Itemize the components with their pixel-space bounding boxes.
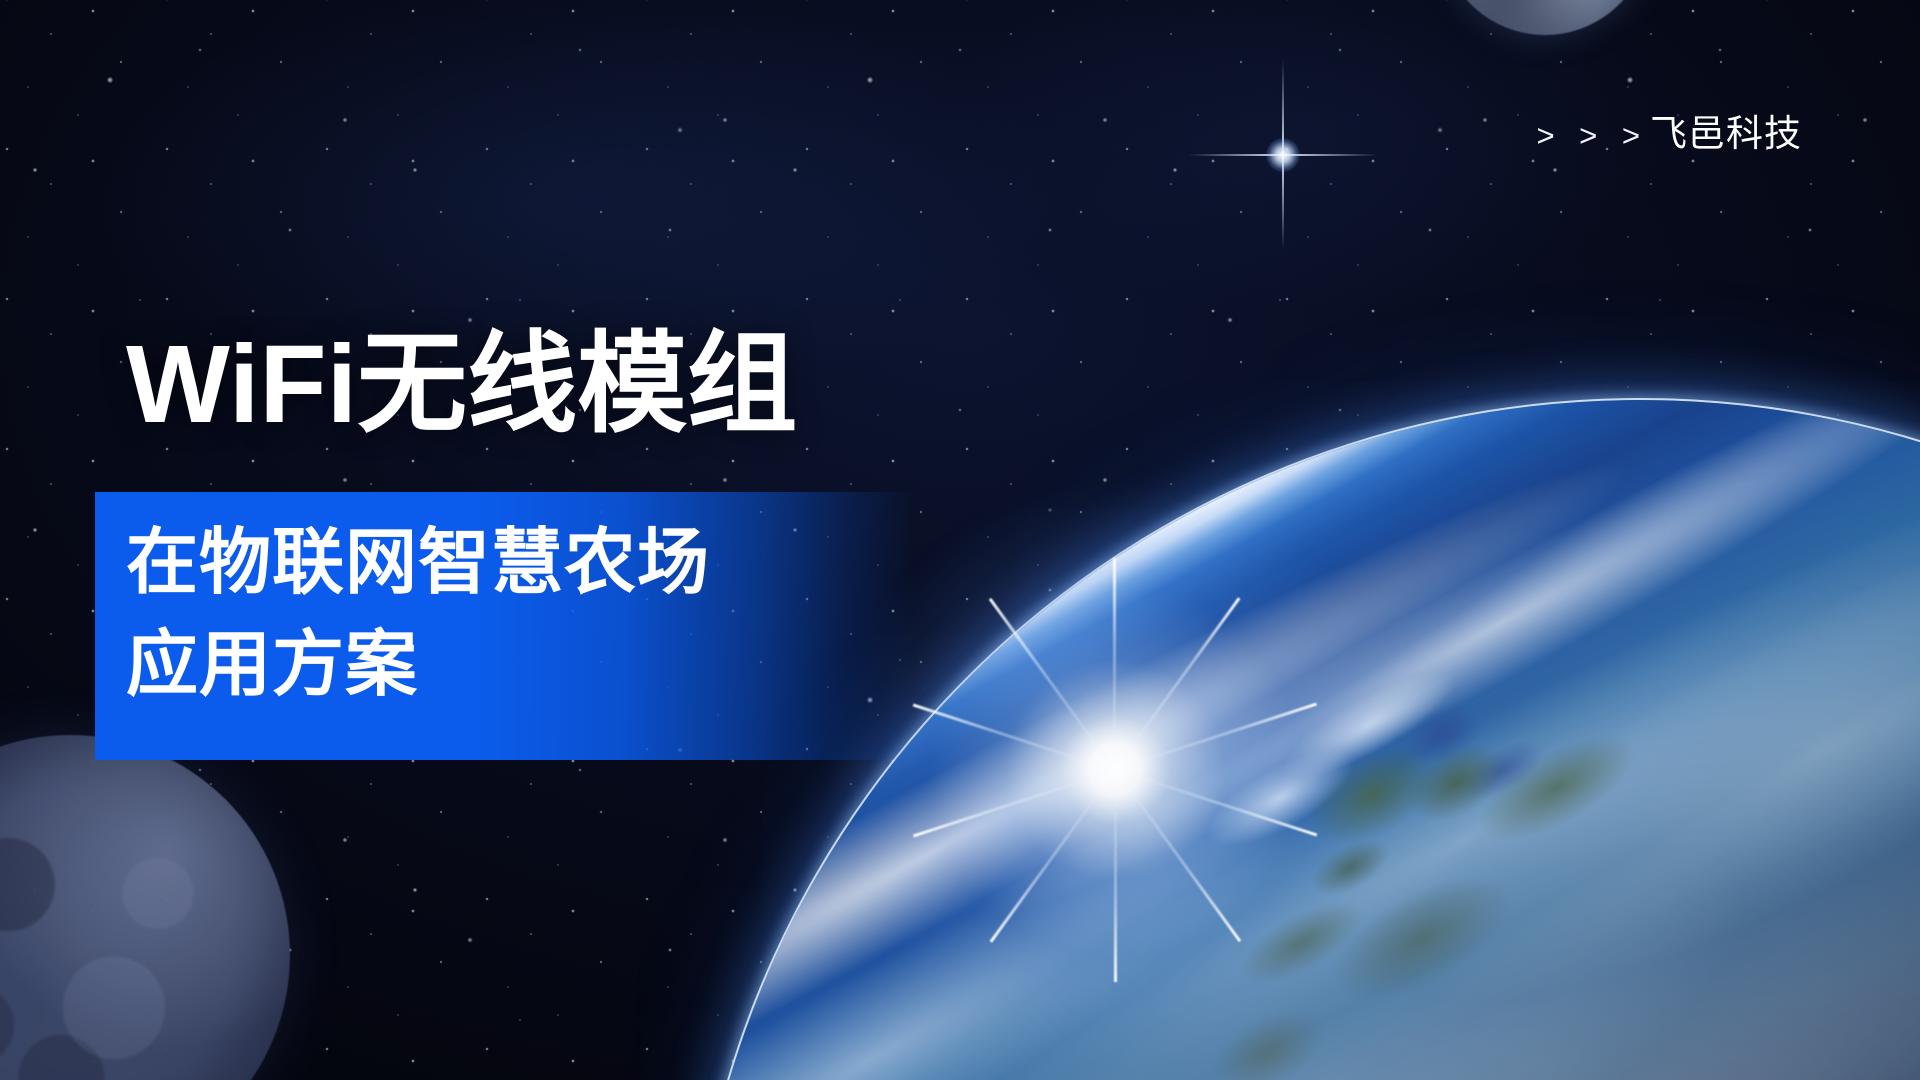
brand-name: 飞邑科技: [1650, 103, 1802, 157]
star-core: [1266, 138, 1300, 172]
slide-canvas: > > > 飞邑科技 WiFi无线模组 在物联网智慧农场 应用方案: [0, 0, 1920, 1080]
brand-logo: > > > 飞邑科技: [1536, 103, 1802, 157]
subtitle-line-2: 应用方案: [126, 614, 886, 716]
subtitle-text: 在物联网智慧农场 应用方案: [126, 512, 886, 716]
subtitle-line-1: 在物联网智慧农场: [126, 512, 886, 614]
chevron-right-icon: > > >: [1536, 118, 1648, 154]
page-title: WiFi无线模组: [126, 330, 797, 440]
